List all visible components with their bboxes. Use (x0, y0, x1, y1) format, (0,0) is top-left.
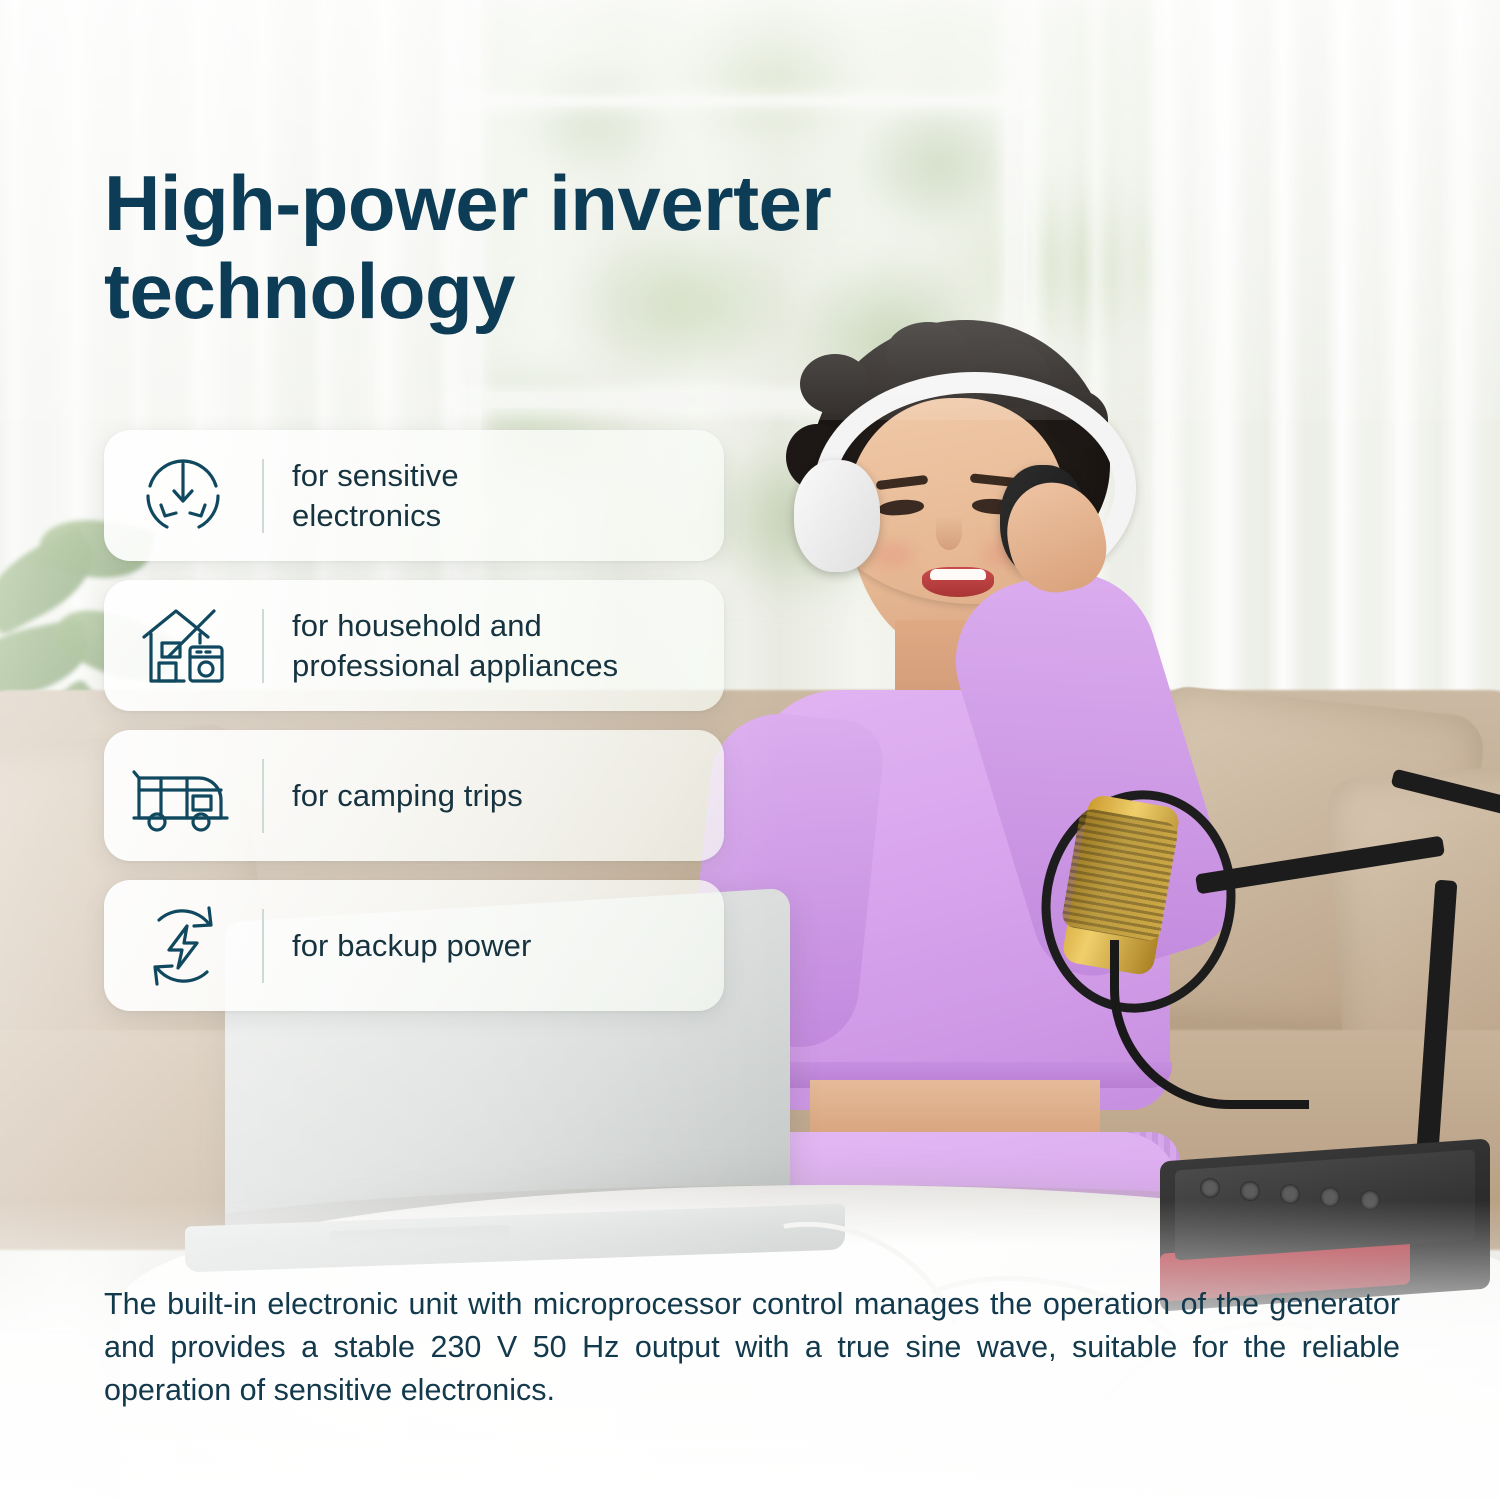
card-divider (262, 459, 264, 533)
feature-card-backup-power[interactable]: for backup power (104, 880, 724, 1011)
feature-label: for sensitive electronics (292, 456, 459, 535)
feature-card-sensitive-electronics[interactable]: for sensitive electronics (104, 430, 724, 561)
headphone-earcup (794, 460, 880, 572)
feature-label: for camping trips (292, 776, 523, 816)
camper-trailer-icon (104, 730, 262, 861)
page-title: High-power inverter technology (104, 160, 1134, 335)
description-paragraph: The built-in electronic unit with microp… (104, 1283, 1400, 1413)
product-infographic-poster: High-power inverter technology for sensi… (0, 0, 1500, 1500)
feature-card-camping-trips[interactable]: for camping trips (104, 730, 724, 861)
card-divider (262, 759, 264, 833)
feature-card-list: for sensitive electronics (104, 430, 724, 1011)
card-divider (262, 609, 264, 683)
backup-power-bolt-icon (104, 880, 262, 1011)
feature-label: for backup power (292, 926, 531, 966)
house-appliances-icon (104, 580, 262, 711)
card-divider (262, 909, 264, 983)
window-mullion (455, 96, 1030, 106)
surge-protection-icon (104, 430, 262, 561)
feature-card-household-appliances[interactable]: for household and professional appliance… (104, 580, 724, 711)
microphone-grille (1060, 807, 1179, 943)
feature-label: for household and professional appliance… (292, 606, 618, 685)
